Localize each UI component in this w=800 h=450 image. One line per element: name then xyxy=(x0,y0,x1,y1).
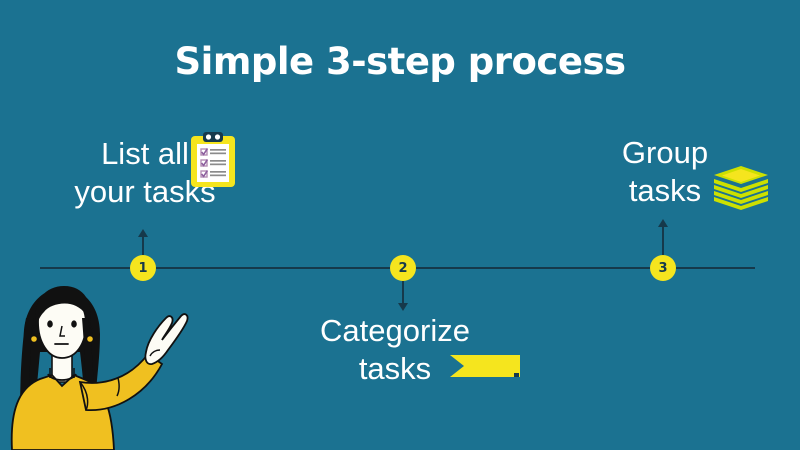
step-3-arrow-up-icon xyxy=(658,219,668,227)
page-title: Simple 3-step process xyxy=(0,40,800,83)
step-1-arrow-up-icon xyxy=(138,229,148,237)
step-2-label-line1: Categorize xyxy=(300,312,490,350)
clipboard-checklist-icon xyxy=(190,132,236,188)
step-2-arrow-down-icon xyxy=(398,303,408,311)
step-marker-2[interactable]: 2 xyxy=(390,255,416,281)
tag-banner-icon xyxy=(450,352,522,380)
step-marker-3[interactable]: 3 xyxy=(650,255,676,281)
money-stack-icon xyxy=(712,166,770,212)
slide-canvas: Simple 3-step process List all your task… xyxy=(0,0,800,450)
step-marker-1[interactable]: 1 xyxy=(130,255,156,281)
woman-presenting-illustration xyxy=(0,282,210,450)
